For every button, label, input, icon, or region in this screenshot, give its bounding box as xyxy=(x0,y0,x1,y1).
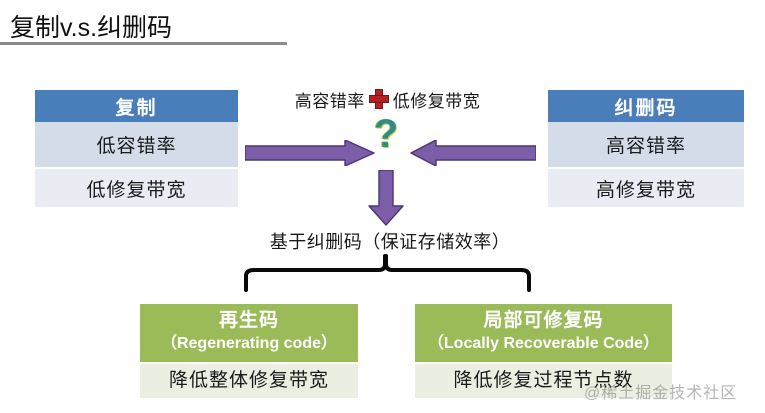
erasure-attribute-fault-tolerance: 高容错率 xyxy=(548,122,744,167)
branch-box-regenerating-code: 再生码 （Regenerating code） 降低整体修复带宽 xyxy=(140,304,358,398)
arrow-left-icon xyxy=(410,140,536,166)
arrow-right-icon xyxy=(245,140,375,166)
brace-connector xyxy=(240,254,540,294)
comparison-box-erasure-code: 纠删码 高容错率 高修复带宽 xyxy=(548,90,744,207)
arrow-down-icon xyxy=(368,170,404,226)
goal-left-text: 高容错率 xyxy=(295,87,365,112)
regenerating-header-en: （Regenerating code） xyxy=(140,333,358,355)
erasure-header: 纠删码 xyxy=(548,90,744,122)
watermark: @稀土掘金技术社区 xyxy=(584,379,737,403)
question-mark-icon: ? xyxy=(372,112,400,156)
goal-right-text: 低修复带宽 xyxy=(393,87,481,112)
plus-icon xyxy=(369,89,389,109)
replication-header: 复制 xyxy=(35,90,238,122)
regenerating-header-cn: 再生码 xyxy=(140,309,358,333)
comparison-box-replication: 复制 低容错率 低修复带宽 xyxy=(35,90,238,207)
regenerating-benefit: 降低整体修复带宽 xyxy=(140,364,358,398)
slide-canvas: 复制v.s.纠删码 复制 低容错率 低修复带宽 纠删码 高容错率 高修复带宽 高… xyxy=(0,0,765,413)
replication-attribute-repair-bandwidth: 低修复带宽 xyxy=(35,169,238,207)
title-divider xyxy=(0,42,287,45)
erasure-attribute-repair-bandwidth: 高修复带宽 xyxy=(548,169,744,207)
lrc-header-en: （Locally Recoverable Code） xyxy=(415,333,672,355)
replication-attribute-fault-tolerance: 低容错率 xyxy=(35,122,238,167)
goal-statement: 高容错率 低修复带宽 xyxy=(275,86,500,112)
lrc-header: 局部可修复码 （Locally Recoverable Code） xyxy=(415,304,672,362)
lrc-header-cn: 局部可修复码 xyxy=(415,309,672,333)
regenerating-header: 再生码 （Regenerating code） xyxy=(140,304,358,362)
basis-statement: 基于纠删码（保证存储效率） xyxy=(240,228,540,254)
page-title: 复制v.s.纠删码 xyxy=(10,8,172,44)
